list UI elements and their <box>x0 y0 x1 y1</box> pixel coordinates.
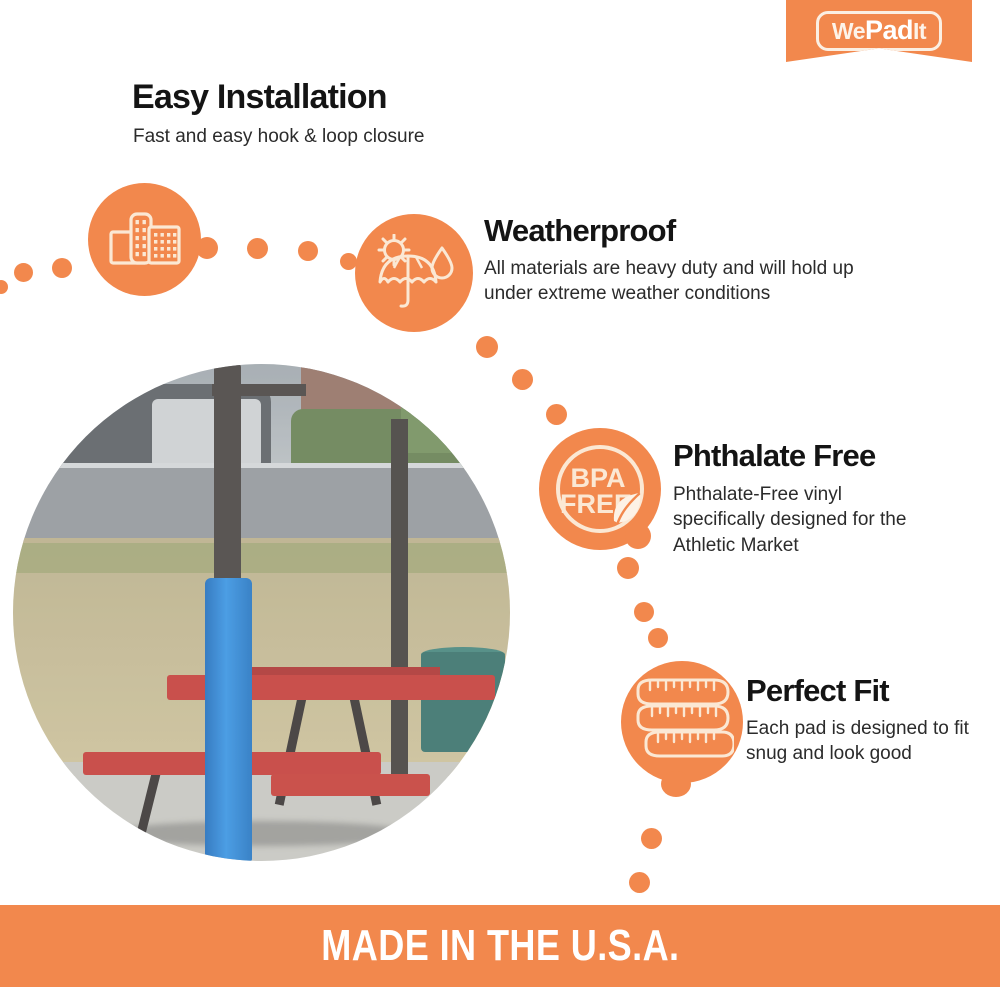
feature-description-weatherproof: All materials are heavy duty and will ho… <box>484 256 904 307</box>
photo-overlay <box>13 364 510 861</box>
brand-logo-plate: We Pad It <box>816 11 942 51</box>
feature-title-phthalate-free: Phthalate Free <box>673 438 875 474</box>
feature-title-weatherproof: Weatherproof <box>484 213 675 249</box>
product-photo <box>13 364 510 861</box>
badge-nub <box>661 771 691 797</box>
trail-dot <box>0 280 8 294</box>
measuring-tape-icon <box>630 676 734 768</box>
made-in-usa-banner: MADE IN THE U.S.A. <box>0 905 1000 987</box>
feature-description-easy-installation: Fast and easy hook & loop closure <box>133 124 425 149</box>
trail-dot <box>247 238 268 259</box>
feature-icon-badge-weatherproof <box>355 214 473 332</box>
feature-title-perfect-fit: Perfect Fit <box>746 673 889 709</box>
infographic-page: We Pad It <box>0 0 1000 987</box>
building-installation-icon <box>109 210 181 270</box>
feature-description-phthalate-free: Phthalate-Free vinyl specifically design… <box>673 482 935 558</box>
product-photo-scene <box>13 364 510 861</box>
feature-icon-badge-easy-installation <box>88 183 201 296</box>
feature-icon-badge-perfect-fit <box>621 661 743 783</box>
made-in-usa-text: MADE IN THE U.S.A. <box>321 921 679 971</box>
trail-dot <box>512 369 533 390</box>
feature-description-perfect-fit: Each pad is designed to fit snug and loo… <box>746 716 972 767</box>
brand-logo-banner: We Pad It <box>786 0 972 62</box>
logo-text-it: It <box>913 20 926 43</box>
trail-dot <box>298 241 318 261</box>
badge-nub <box>625 523 651 549</box>
trail-dot <box>617 557 639 579</box>
logo-text-pad: Pad <box>865 17 913 44</box>
logo-text-we: We <box>832 20 865 43</box>
trail-dot <box>476 336 498 358</box>
trail-dot <box>14 263 33 282</box>
feature-icon-badge-phthalate-free: BPA FREE <box>539 428 661 550</box>
sun-umbrella-raindrop-icon <box>372 234 456 312</box>
trail-dot <box>648 628 668 648</box>
trail-dot <box>634 602 654 622</box>
trail-dot <box>52 258 72 278</box>
feature-title-easy-installation: Easy Installation <box>132 78 387 117</box>
trail-dot <box>641 828 662 849</box>
trail-dot <box>629 872 650 893</box>
trail-dot <box>546 404 567 425</box>
